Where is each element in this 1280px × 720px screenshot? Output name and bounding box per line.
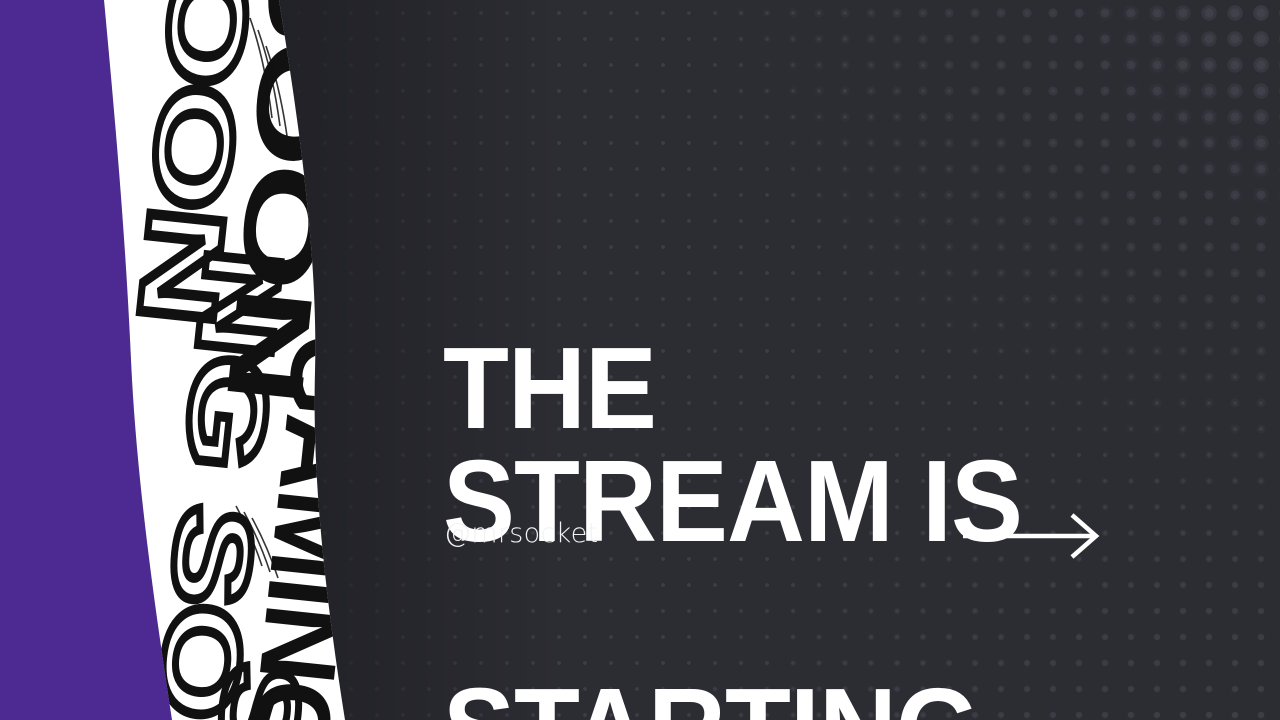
headline: THE STREAM IS STARTING SOON bbox=[443, 218, 1113, 720]
stream-overlay-canvas: SOON GAMING STREA SOON NG SO SING bbox=[0, 0, 1280, 720]
social-handle: @mrsocket bbox=[444, 518, 598, 549]
headline-line-2: STARTING SOON bbox=[443, 673, 1113, 720]
right-arrow-icon[interactable] bbox=[960, 512, 1104, 560]
left-decorative-art: SOON GAMING STREA SOON NG SO SING bbox=[0, 0, 400, 720]
